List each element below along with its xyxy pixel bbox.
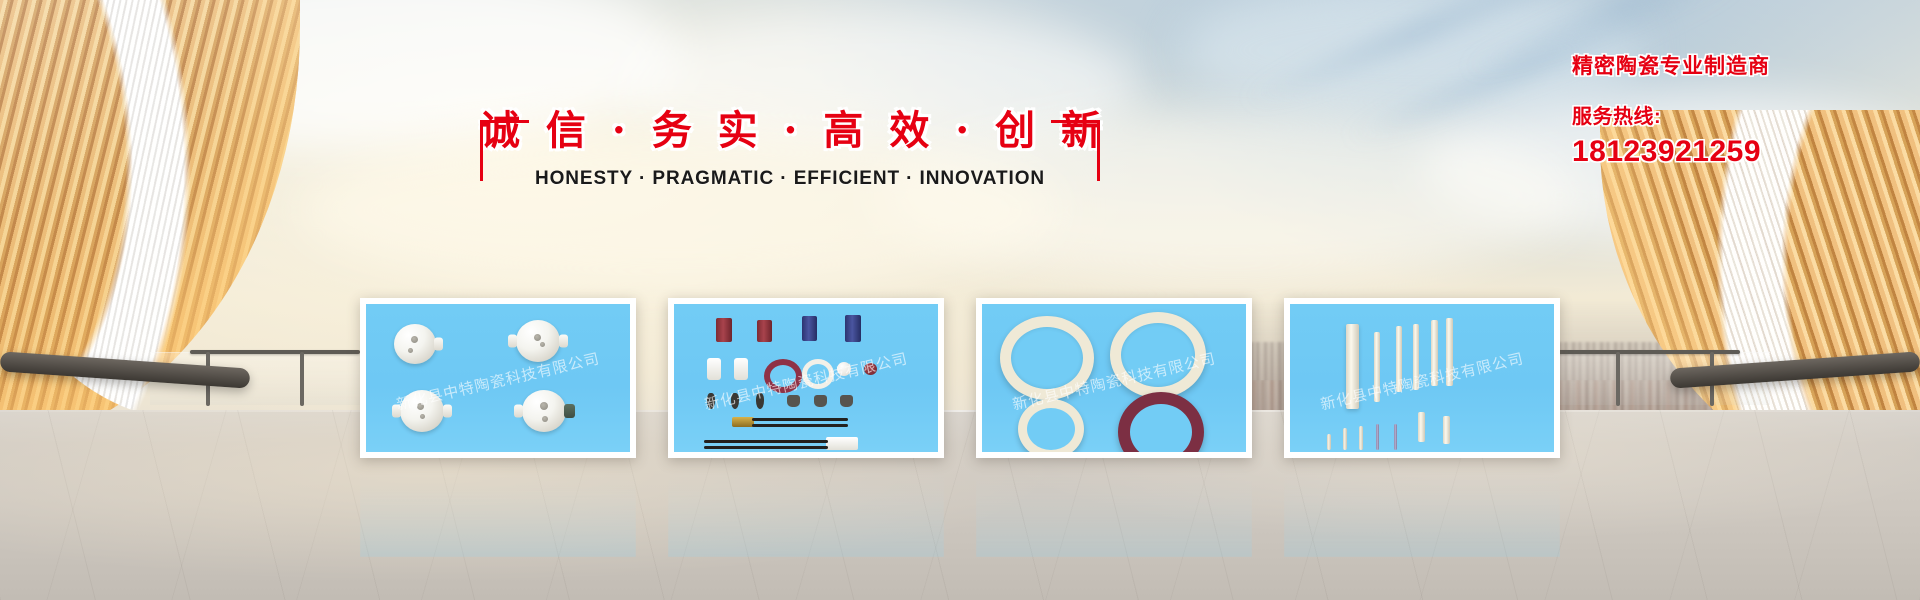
slogan-block: 诚 信 · 务 实 · 高 效 · 创 新 HONESTY · PRAGMATI… [480, 108, 1100, 190]
product-photo: 新化县中特陶瓷科技有限公司 [366, 304, 630, 452]
ceramic-plate [707, 358, 721, 380]
product-photo: 新化县中特陶瓷科技有限公司 [982, 304, 1246, 452]
product-panel-ceramic-rings[interactable]: 新化县中特陶瓷科技有限公司 [976, 298, 1252, 458]
product-panel-ceramic-components[interactable]: 新化县中特陶瓷科技有限公司 [668, 298, 944, 458]
corner-bracket-right-icon [1051, 120, 1100, 181]
lead-wire [752, 418, 848, 421]
lead-wire [752, 424, 848, 427]
metal-contact [731, 393, 739, 409]
metal-clip [814, 395, 827, 407]
hotline-number[interactable]: 18123921259 [1572, 135, 1902, 169]
product-panel-row: 新化县中特陶瓷科技有限公司 [360, 298, 1560, 458]
ceramic-tube-blue [845, 315, 861, 342]
ceramic-rod [1413, 324, 1419, 390]
metal-contact [707, 393, 715, 409]
ceramic-rod [1431, 320, 1438, 386]
railing-post [1616, 352, 1620, 406]
lamp-holder [522, 390, 566, 432]
panel-reflection [1284, 461, 1560, 557]
ceramic-pin [1359, 426, 1363, 450]
ceramic-rod [1446, 318, 1453, 386]
product-photo: 新化县中特陶瓷科技有限公司 [674, 304, 938, 452]
hotline-label: 服务热线: [1572, 100, 1902, 129]
contact-block: 精密陶瓷专业制造商 服务热线: 18123921259 [1572, 50, 1902, 169]
ceramic-plate [734, 358, 748, 380]
panel-reflection [668, 461, 944, 557]
wire-terminal [732, 417, 754, 427]
ceramic-ring-small [1018, 399, 1084, 452]
slogan-chinese: 诚 信 · 务 实 · 高 效 · 创 新 [480, 108, 1100, 154]
ceramic-pin [1327, 434, 1331, 450]
ceramic-tube-blue [802, 316, 817, 341]
ceramic-tube-short [1443, 416, 1450, 444]
ceramic-rod [1396, 326, 1402, 392]
panel-reflection [976, 461, 1252, 557]
ceramic-ring-large [1000, 316, 1094, 400]
company-tagline: 精密陶瓷专业制造商 [1572, 50, 1902, 80]
ceramic-pin [1343, 428, 1347, 450]
railing-bar-left [190, 350, 360, 354]
lamp-holder [394, 324, 436, 364]
lamp-holder [516, 320, 560, 362]
ceramic-rod [1346, 324, 1359, 409]
corner-bracket-left-icon [480, 120, 529, 181]
product-photo: 新化县中特陶瓷科技有限公司 [1290, 304, 1554, 452]
panel-reflection [360, 461, 636, 557]
metal-contact [756, 393, 764, 409]
ceramic-rod [1374, 332, 1380, 402]
ceramic-tube-red [716, 318, 732, 342]
ceramic-ring-maroon [1118, 392, 1204, 452]
ceramic-cap-white [837, 362, 851, 376]
metal-clip [787, 395, 800, 407]
ceramic-ring-red [764, 359, 802, 393]
lead-wire [704, 446, 828, 449]
slogan-english: HONESTY · PRAGMATIC · EFFICIENT · INNOVA… [480, 168, 1100, 190]
ceramic-tube-red [757, 320, 772, 342]
product-panel-ceramic-lamp-holders[interactable]: 新化县中特陶瓷科技有限公司 [360, 298, 636, 458]
ceramic-tube-short [1418, 412, 1425, 442]
lead-wire [704, 440, 828, 443]
product-panel-ceramic-rods[interactable]: 新化县中特陶瓷科技有限公司 [1284, 298, 1560, 458]
ceramic-ring-large [1110, 312, 1206, 398]
metal-clip [840, 395, 853, 407]
lamp-holder [400, 390, 444, 432]
ceramic-ring-white [802, 359, 834, 389]
railing-post [300, 352, 304, 406]
wire-connector [826, 437, 858, 450]
ceramic-cap-red [864, 363, 877, 375]
hero-banner: 诚 信 · 务 实 · 高 效 · 创 新 HONESTY · PRAGMATI… [0, 0, 1920, 600]
ceramic-pin-grey [1394, 424, 1397, 450]
ceramic-pin-grey [1376, 424, 1379, 450]
